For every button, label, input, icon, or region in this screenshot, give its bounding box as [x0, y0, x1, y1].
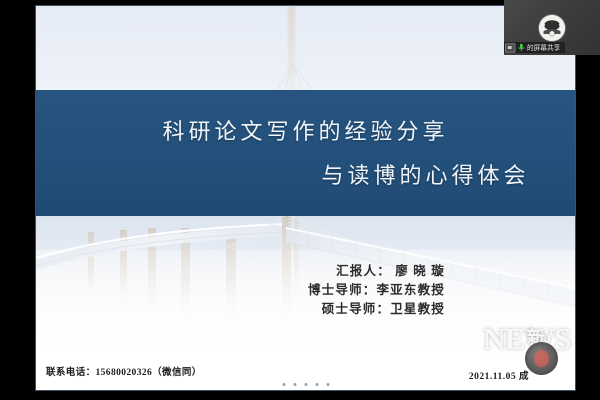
slide-sky-background: [36, 6, 575, 90]
slide-title-line-2: 与读博的心得体会: [36, 158, 575, 190]
self-view-label-text: 的屏幕共享: [527, 43, 560, 53]
pagination-dot[interactable]: [293, 383, 296, 386]
pagination-dot[interactable]: [315, 383, 318, 386]
pagination-dot[interactable]: [282, 383, 285, 386]
pagination-dot[interactable]: [304, 383, 307, 386]
presenter-phd-advisor: 博士导师：李亚东教授: [308, 281, 445, 300]
microphone-icon: [518, 43, 525, 52]
screen-share-icon: [505, 43, 515, 53]
user-avatar-icon: [539, 15, 565, 41]
self-view-status-label: 的屏幕共享: [504, 42, 565, 53]
slide-date: 2021.11.05 成: [469, 368, 529, 382]
presenter-info: 汇报人： 廖 晓 璇 博士导师：李亚东教授 硕士导师：卫星教授: [308, 262, 445, 319]
presentation-slide[interactable]: 科研论文写作的经验分享 与读博的心得体会: [36, 6, 575, 390]
slide-pagination-dots[interactable]: [282, 383, 329, 386]
title-banner: 科研论文写作的经验分享 与读博的心得体会: [36, 90, 575, 216]
pagination-dot[interactable]: [326, 383, 329, 386]
contact-phone: 联系电话：15680020326（微信同）: [46, 364, 202, 378]
screen-root: 科研论文写作的经验分享 与读博的心得体会: [0, 0, 600, 400]
slide-title-line-1: 科研论文写作的经验分享: [36, 114, 575, 146]
presenter-reporter: 汇报人： 廖 晓 璇: [308, 262, 445, 281]
self-view-video-tile[interactable]: 的屏幕共享: [504, 0, 600, 55]
presenter-master-advisor: 硕士导师：卫星教授: [308, 300, 445, 319]
